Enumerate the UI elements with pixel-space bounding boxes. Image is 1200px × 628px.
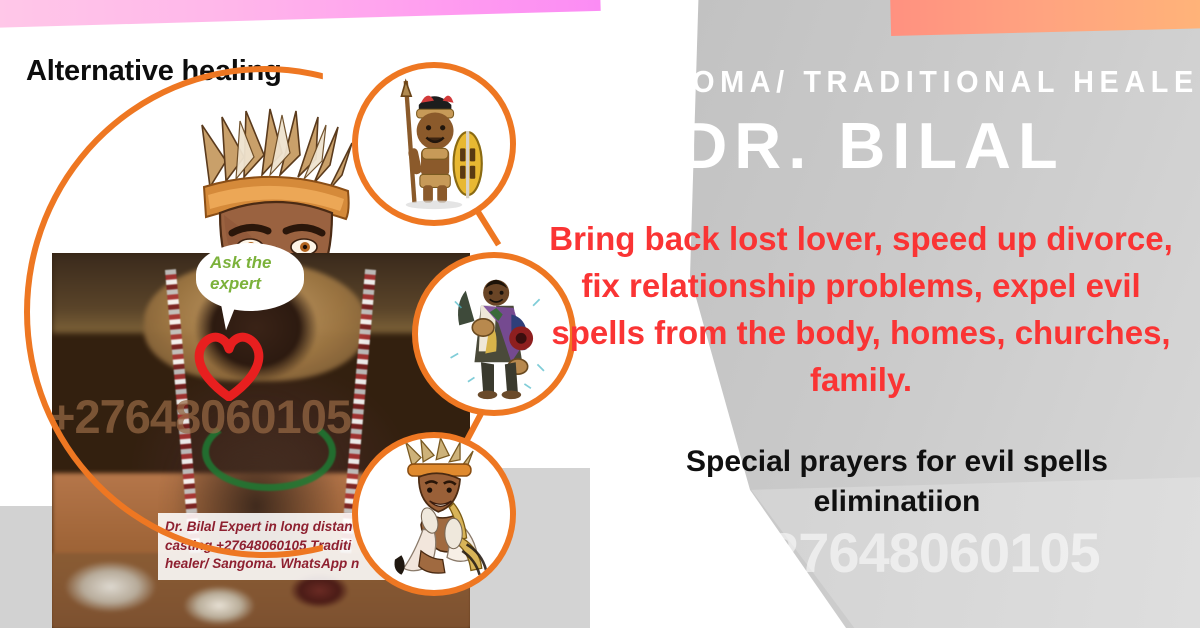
pink-accent-bar bbox=[0, 0, 601, 28]
services-description: Bring back lost lover, speed up divorce,… bbox=[538, 216, 1184, 403]
zulu-warrior-icon bbox=[358, 68, 510, 220]
circle-zulu-warrior bbox=[352, 62, 516, 226]
ask-the-expert-text: Ask the expert bbox=[200, 252, 310, 295]
circle-crouching-dancer bbox=[352, 432, 516, 596]
poster-canvas: Alternative healing bbox=[0, 0, 1200, 628]
special-prayers-text: Special prayers for evil spells eliminat… bbox=[612, 442, 1182, 521]
page-title: DR. BILAL bbox=[565, 108, 1180, 183]
photo-watermark-phone: +27648060105 bbox=[48, 389, 351, 444]
gray-strip-bottom-left bbox=[0, 506, 52, 628]
crouching-dancer-icon bbox=[358, 438, 510, 590]
watermark-phone-number: +27648060105 bbox=[640, 520, 1196, 585]
alternative-healing-heading: Alternative healing bbox=[26, 55, 282, 88]
eyebrow-title: SANGOMA/ TRADITIONAL HEALER bbox=[587, 64, 1159, 100]
